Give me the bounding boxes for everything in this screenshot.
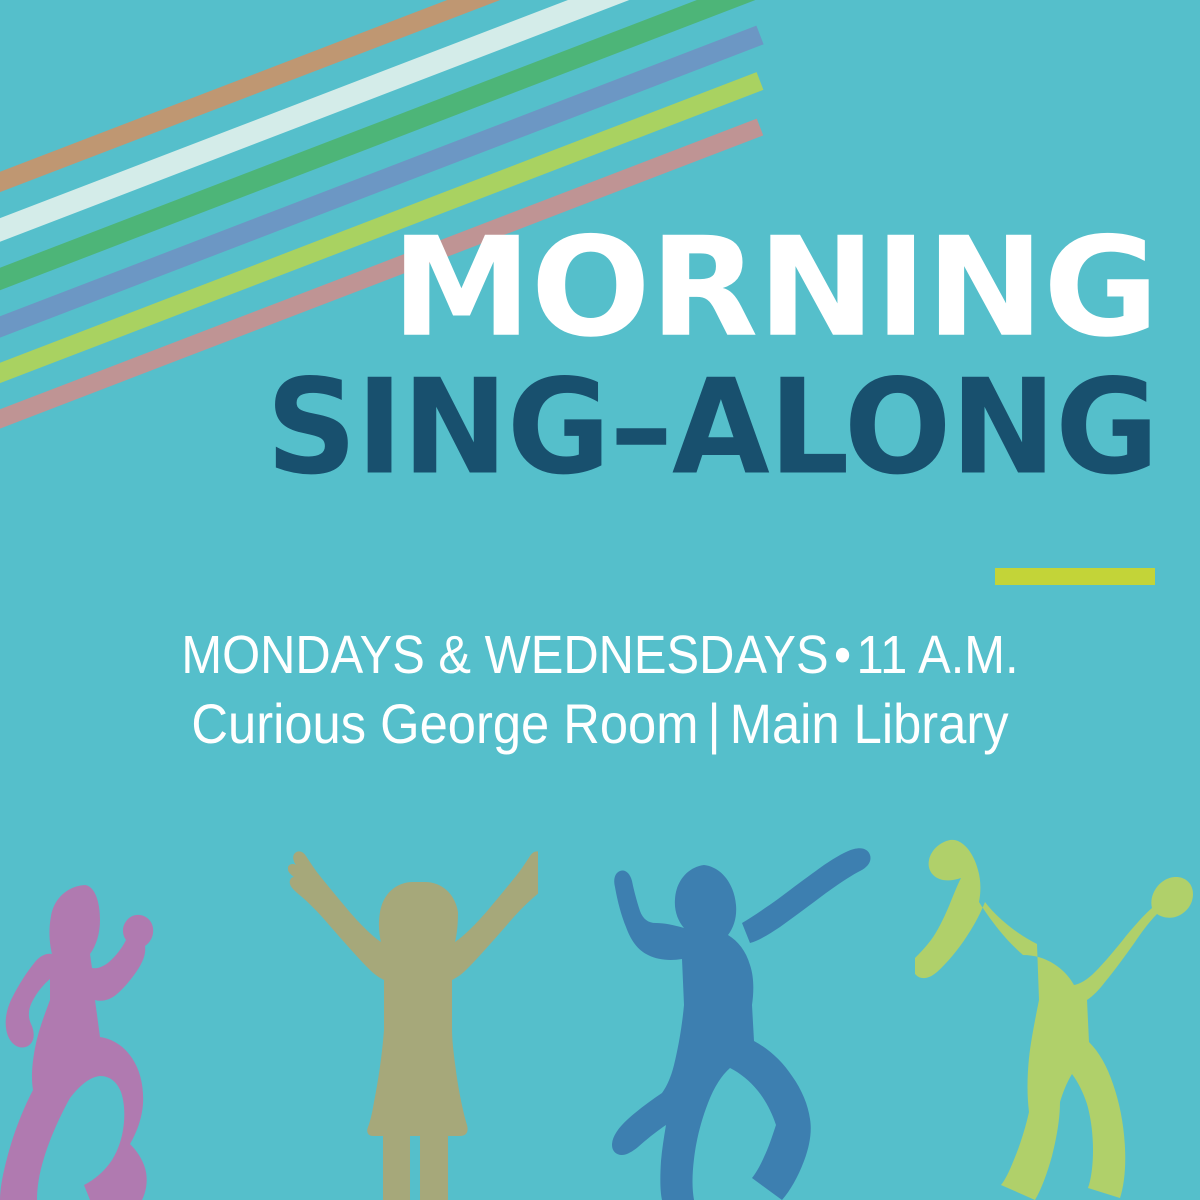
tan-stripe <box>0 0 760 205</box>
cartwheel-child-silhouette <box>915 830 1200 1200</box>
page-title-line-1: MORNING <box>0 226 1158 352</box>
location-building: Main Library <box>730 692 1009 755</box>
running-girl-silhouette <box>0 880 250 1200</box>
schedule-days: MONDAYS & WEDNESDAYS <box>181 625 828 685</box>
subtitle-block: MONDAYS & WEDNESDAYS•11 A.M. Curious Geo… <box>0 628 1200 752</box>
schedule-time: 11 A.M. <box>857 625 1019 685</box>
pipe-separator-icon: | <box>698 692 729 755</box>
poster-canvas: MORNING SING–ALONG MONDAYS & WEDNESDAYS•… <box>0 0 1200 1200</box>
location-room: Curious George Room <box>191 692 698 755</box>
bullet-separator-icon: • <box>829 625 857 685</box>
cheering-girl-silhouette <box>288 830 538 1200</box>
accent-rule-divider <box>995 568 1155 585</box>
jumping-child-silhouette <box>612 845 892 1200</box>
page-title-line-2: SING–ALONG <box>0 368 1158 489</box>
headline-block: MORNING SING–ALONG <box>0 228 1158 486</box>
silhouette-figures-group <box>0 800 1200 1200</box>
schedule-line: MONDAYS & WEDNESDAYS•11 A.M. <box>57 628 1143 682</box>
location-line: Curious George Room|Main Library <box>57 696 1143 752</box>
